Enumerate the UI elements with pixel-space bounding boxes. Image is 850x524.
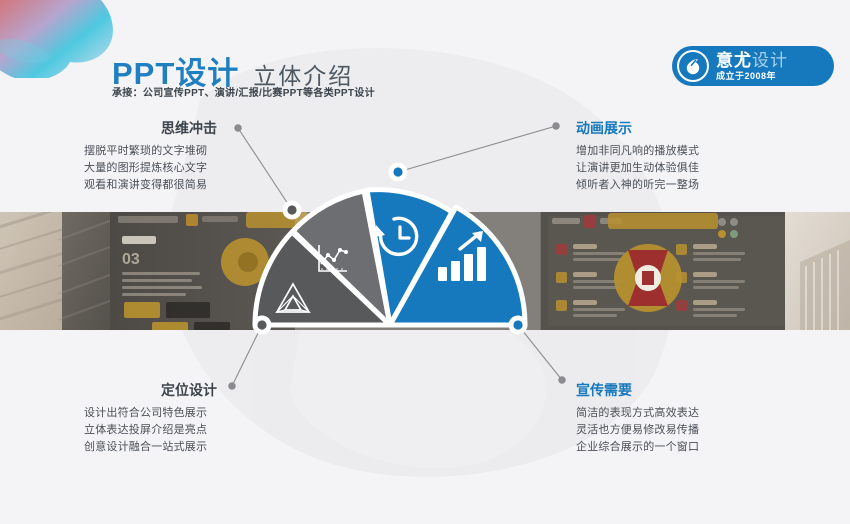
line-xuanchuan-1: 简洁的表现方式高效表达: [576, 405, 786, 422]
slide-canvas: 03: [0, 0, 850, 524]
line-donghua-1: 增加非同凡响的播放模式: [576, 143, 786, 160]
line-donghua-2: 让演讲更加生动体验俱佳: [576, 160, 786, 177]
line-dingwei-3: 创意设计融合一站式展示: [84, 439, 294, 456]
heading-siwei: 思维冲击: [84, 120, 294, 137]
node-donghua[interactable]: [389, 163, 408, 182]
line-xuanchuan-3: 企业综合展示的一个窗口: [576, 439, 786, 456]
node-xuanchuan[interactable]: [509, 316, 528, 335]
line-dingwei-2: 立体表达投屏介绍是亮点: [84, 422, 294, 439]
line-xuanchuan-2: 灵活也方便易修改易传播: [576, 422, 786, 439]
text-block-xuanchuan: 宣传需要 简洁的表现方式高效表达 灵活也方便易修改易传播 企业综合展示的一个窗口: [576, 382, 786, 456]
node-dingwei[interactable]: [253, 316, 272, 335]
line-dingwei-1: 设计出符合公司特色展示: [84, 405, 294, 422]
heading-donghua: 动画展示: [576, 120, 786, 137]
text-block-donghua: 动画展示 增加非同凡响的播放模式 让演讲更加生动体验俱佳 倾听者入神的听完一整场: [576, 120, 786, 194]
line-siwei-3: 观看和演讲变得都很简易: [84, 177, 294, 194]
heading-xuanchuan: 宣传需要: [576, 382, 786, 399]
node-siwei[interactable]: [283, 201, 302, 220]
line-siwei-1: 摆脱平时繁琐的文字堆砌: [84, 143, 294, 160]
line-donghua-3: 倾听者入神的听完一整场: [576, 177, 786, 194]
text-block-dingwei: 定位设计 设计出符合公司特色展示 立体表达投屏介绍是亮点 创意设计融合一站式展示: [84, 382, 294, 456]
text-block-siwei: 思维冲击 摆脱平时繁琐的文字堆砌 大量的图形提炼核心文字 观看和演讲变得都很简易: [84, 120, 294, 194]
line-siwei-2: 大量的图形提炼核心文字: [84, 160, 294, 177]
heading-dingwei: 定位设计: [84, 382, 294, 399]
